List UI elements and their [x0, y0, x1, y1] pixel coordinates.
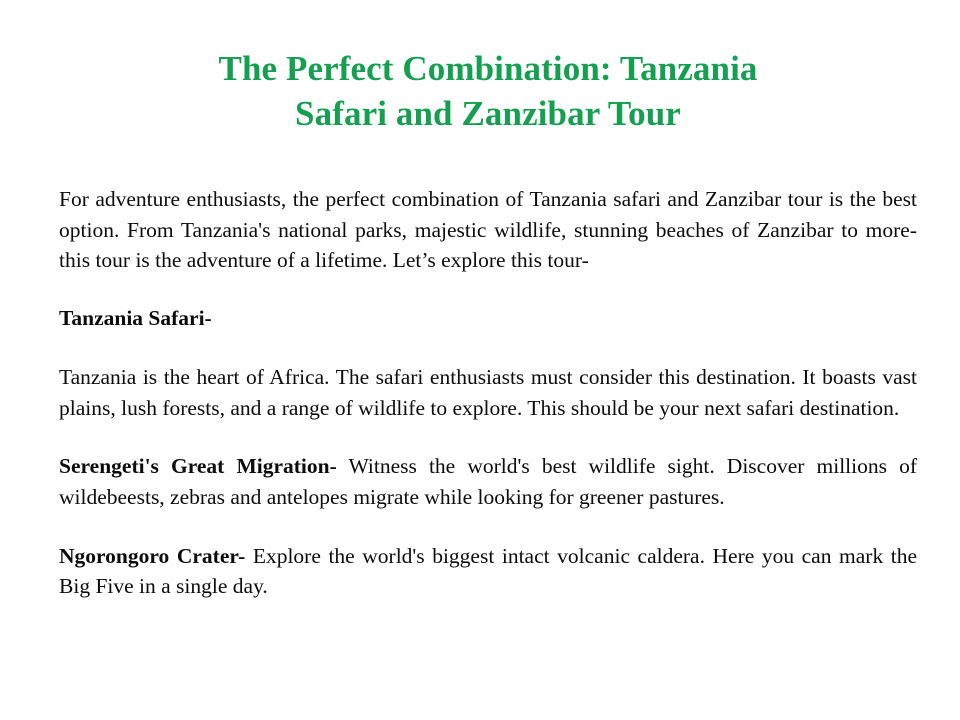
page-title: The Perfect Combination: Tanzania Safari… [59, 0, 917, 136]
ngorongoro-paragraph: Ngorongoro Crater- Explore the world's b… [59, 513, 917, 602]
serengeti-lead-label: Serengeti's Great Migration- [59, 454, 337, 478]
document-content: The Perfect Combination: Tanzania Safari… [59, 0, 917, 602]
intro-paragraph: For adventure enthusiasts, the perfect c… [59, 136, 917, 276]
page-title-line-1: The Perfect Combination: Tanzania [59, 46, 917, 91]
document-page: The Perfect Combination: Tanzania Safari… [0, 0, 960, 720]
page-title-line-2: Safari and Zanzibar Tour [59, 91, 917, 136]
serengeti-paragraph: Serengeti's Great Migration- Witness the… [59, 423, 917, 512]
section-heading-tanzania-safari: Tanzania Safari- [59, 276, 917, 334]
ngorongoro-lead-label: Ngorongoro Crater- [59, 544, 245, 568]
tanzania-description-paragraph: Tanzania is the heart of Africa. The saf… [59, 334, 917, 423]
